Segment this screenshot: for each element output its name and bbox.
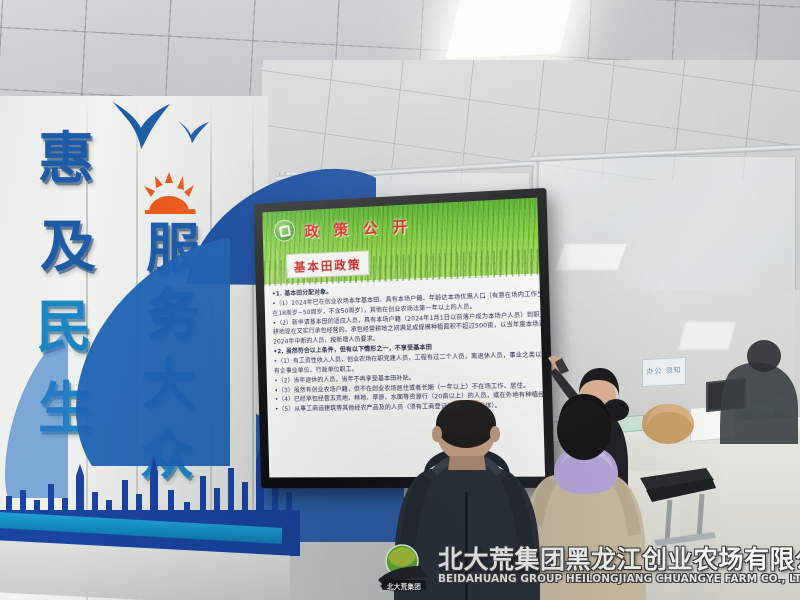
watermark-company-cn: 北大荒集团黑龙江创业农场有限公司 (438, 547, 800, 573)
watermark: 北大荒集团 北大荒集团黑龙江创业农场有限公司 BEIDAHUANG GROUP … (376, 538, 800, 594)
wall-char-hui: 惠 (38, 132, 94, 188)
led-panel-light (446, 0, 574, 59)
slide-subtitle-box: 基本田政策 (286, 250, 370, 278)
photo-scene: 办公 须知 (0, 0, 800, 600)
beidahuang-group-logo-icon: 北大荒集团 (376, 542, 432, 590)
glass-light-reflection-3 (555, 244, 626, 270)
watermark-text-block: 北大荒集团黑龙江创业农场有限公司 BEIDAHUANG GROUP HEILON… (438, 547, 800, 585)
watermark-company-en: BEIDAHUANG GROUP HEILONGJIANG CHUANGYE F… (438, 574, 800, 585)
staff-at-counter (640, 398, 698, 446)
counter-notice-sign: 办公 须知 (642, 357, 686, 387)
counter-notice-sign-text: 办公 须知 (646, 367, 681, 377)
seagull-small-icon (176, 118, 212, 144)
seagull-icon (110, 96, 186, 150)
person-behind-glass (720, 338, 798, 444)
wall-wave-decor-lower (52, 238, 232, 472)
slide-subtitle: 基本田政策 (294, 258, 362, 275)
watermark-logo-label: 北大荒集团 (376, 581, 432, 591)
